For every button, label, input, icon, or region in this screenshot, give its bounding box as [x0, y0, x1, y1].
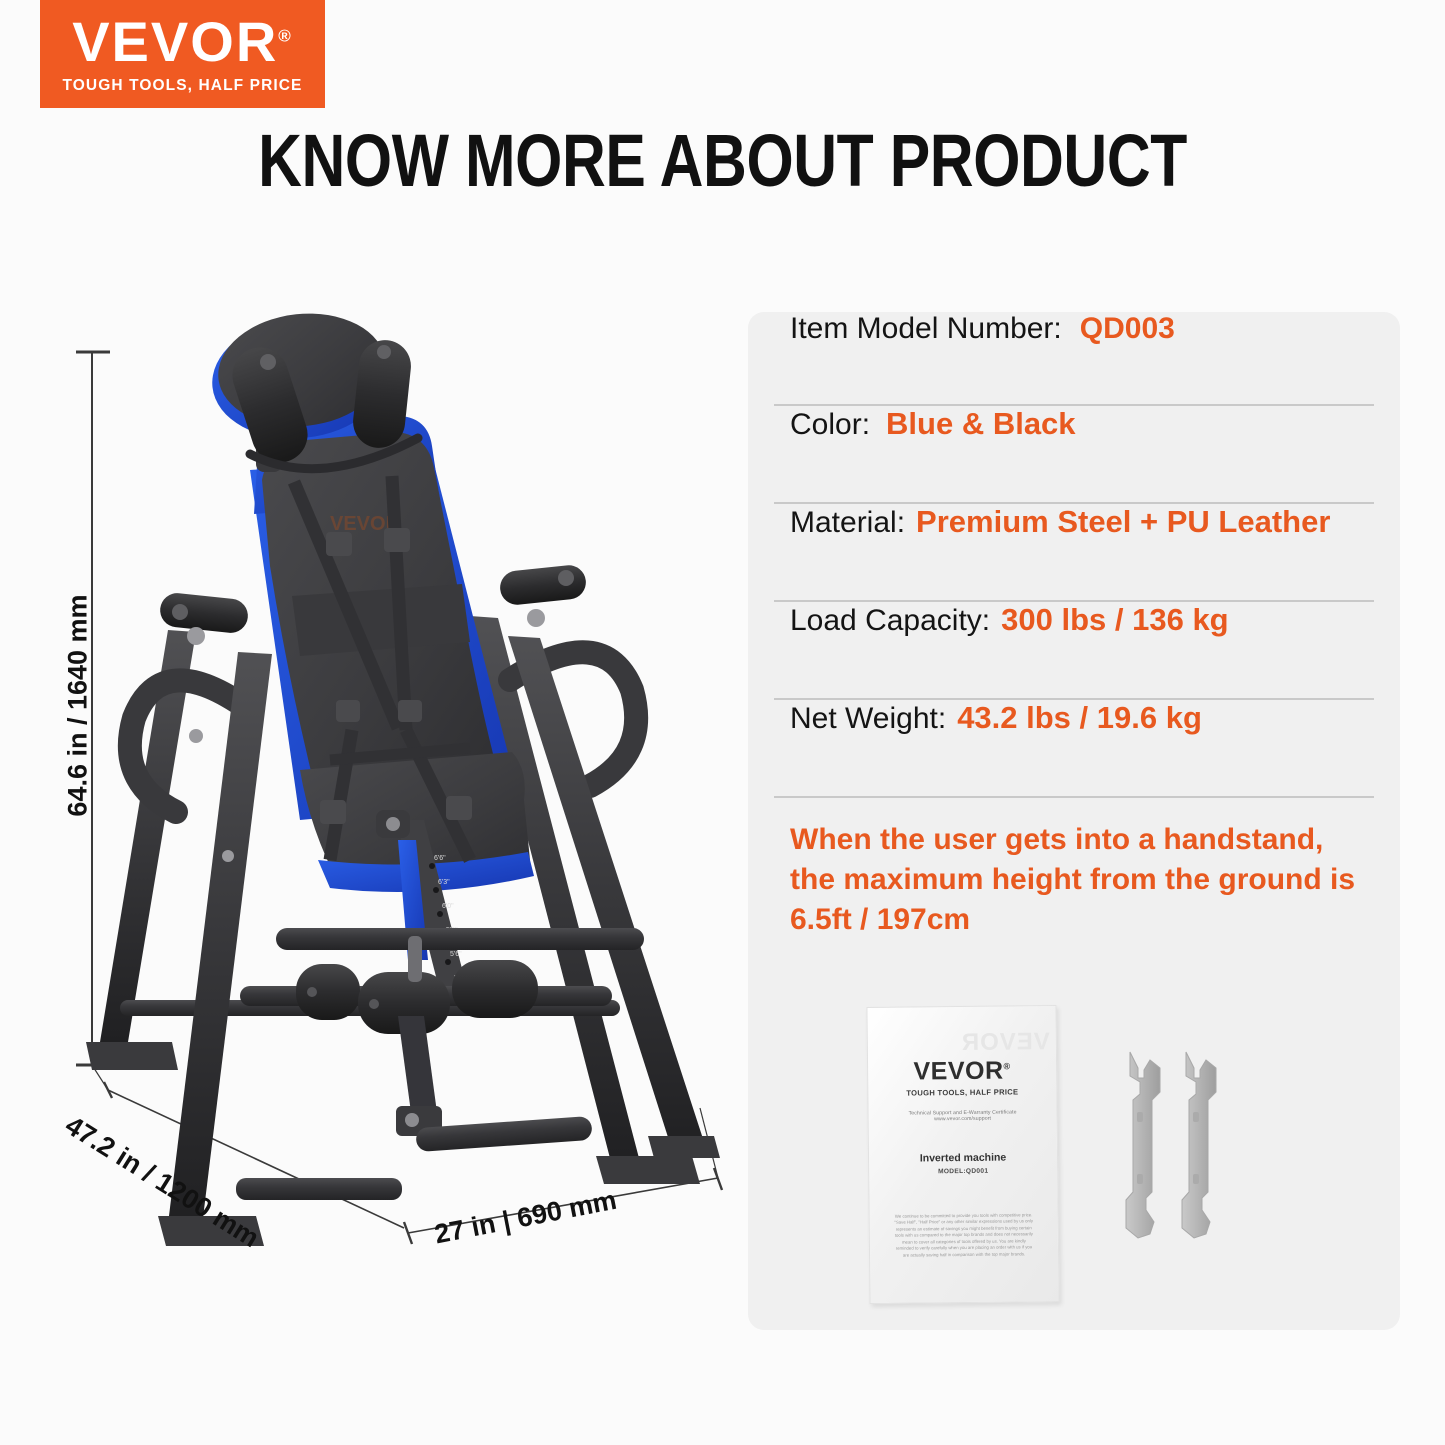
spec-value-model: QD003	[1080, 312, 1175, 346]
open-end-wrench	[1126, 1052, 1160, 1238]
lower-support-arm	[396, 1016, 593, 1152]
brand-wordmark: VEVOR®	[72, 14, 293, 70]
spec-value-color: Blue & Black	[886, 406, 1076, 442]
spec-label-material: Material:	[790, 506, 905, 540]
svg-text:6'6": 6'6"	[434, 855, 446, 862]
spec-row-load-capacity: Load Capacity: 300 lbs / 136 kg	[774, 602, 1374, 700]
svg-text:5'6": 5'6"	[450, 951, 462, 958]
spec-row-model: Item Model Number: QD003	[774, 312, 1374, 406]
page-title: KNOW MORE ABOUT PRODUCT	[130, 118, 1315, 203]
manual-body-text: We continue to be committed to provide y…	[886, 1212, 1042, 1259]
spec-label-net-weight: Net Weight:	[790, 702, 946, 736]
handstand-height-note: When the user gets into a handstand, the…	[774, 798, 1374, 940]
manual-tagline: TOUGH TOOLS, HALF PRICE	[884, 1087, 1040, 1098]
spec-row-net-weight: Net Weight: 43.2 lbs / 19.6 kg	[774, 700, 1374, 798]
specification-panel: Item Model Number: QD003 Color: Blue & B…	[748, 312, 1400, 1330]
spec-row-material: Material: Premium Steel + PU Leather	[774, 504, 1374, 602]
spec-value-net-weight: 43.2 lbs / 19.6 kg	[957, 700, 1202, 736]
svg-text:6'0": 6'0"	[442, 903, 454, 910]
spec-label-load-capacity: Load Capacity:	[790, 604, 990, 638]
dimension-height-label: 64.6 in / 1640 mm	[63, 576, 94, 836]
registered-trademark-icon: ®	[278, 26, 293, 45]
wrench-pair	[1100, 1042, 1280, 1272]
spec-label-model: Item Model Number:	[790, 312, 1062, 346]
spec-row-color: Color: Blue & Black	[774, 406, 1374, 504]
accessories-group: VEVOR VEVOR® TOUGH TOOLS, HALF PRICE Tec…	[748, 1002, 1400, 1322]
manual-product-name: Inverted machine	[885, 1151, 1041, 1165]
manual-brand-text: VEVOR	[913, 1057, 1003, 1086]
svg-text:6'3": 6'3"	[438, 879, 450, 886]
spec-label-color: Color:	[790, 408, 870, 442]
manual-model-line: MODEL:QD001	[885, 1167, 1041, 1176]
manual-brand-wordmark: VEVOR®	[884, 1058, 1040, 1085]
spec-value-load-capacity: 300 lbs / 136 kg	[1001, 602, 1228, 638]
manual-support-line: Technical Support and E-Warranty Certifi…	[885, 1109, 1041, 1123]
user-manual-booklet: VEVOR VEVOR® TOUGH TOOLS, HALF PRICE Tec…	[866, 1005, 1059, 1304]
manual-registered-icon: ®	[1003, 1061, 1010, 1071]
upper-front-tube	[276, 928, 644, 950]
product-illustration: VEVOR	[0, 300, 748, 1320]
spec-value-material: Premium Steel + PU Leather	[916, 504, 1330, 540]
open-end-wrench	[1182, 1052, 1216, 1238]
vevor-brand-badge: VEVOR® TOUGH TOOLS, HALF PRICE	[40, 0, 325, 108]
brand-tagline: TOUGH TOOLS, HALF PRICE	[62, 77, 302, 95]
brand-wordmark-text: VEVOR	[72, 10, 278, 73]
